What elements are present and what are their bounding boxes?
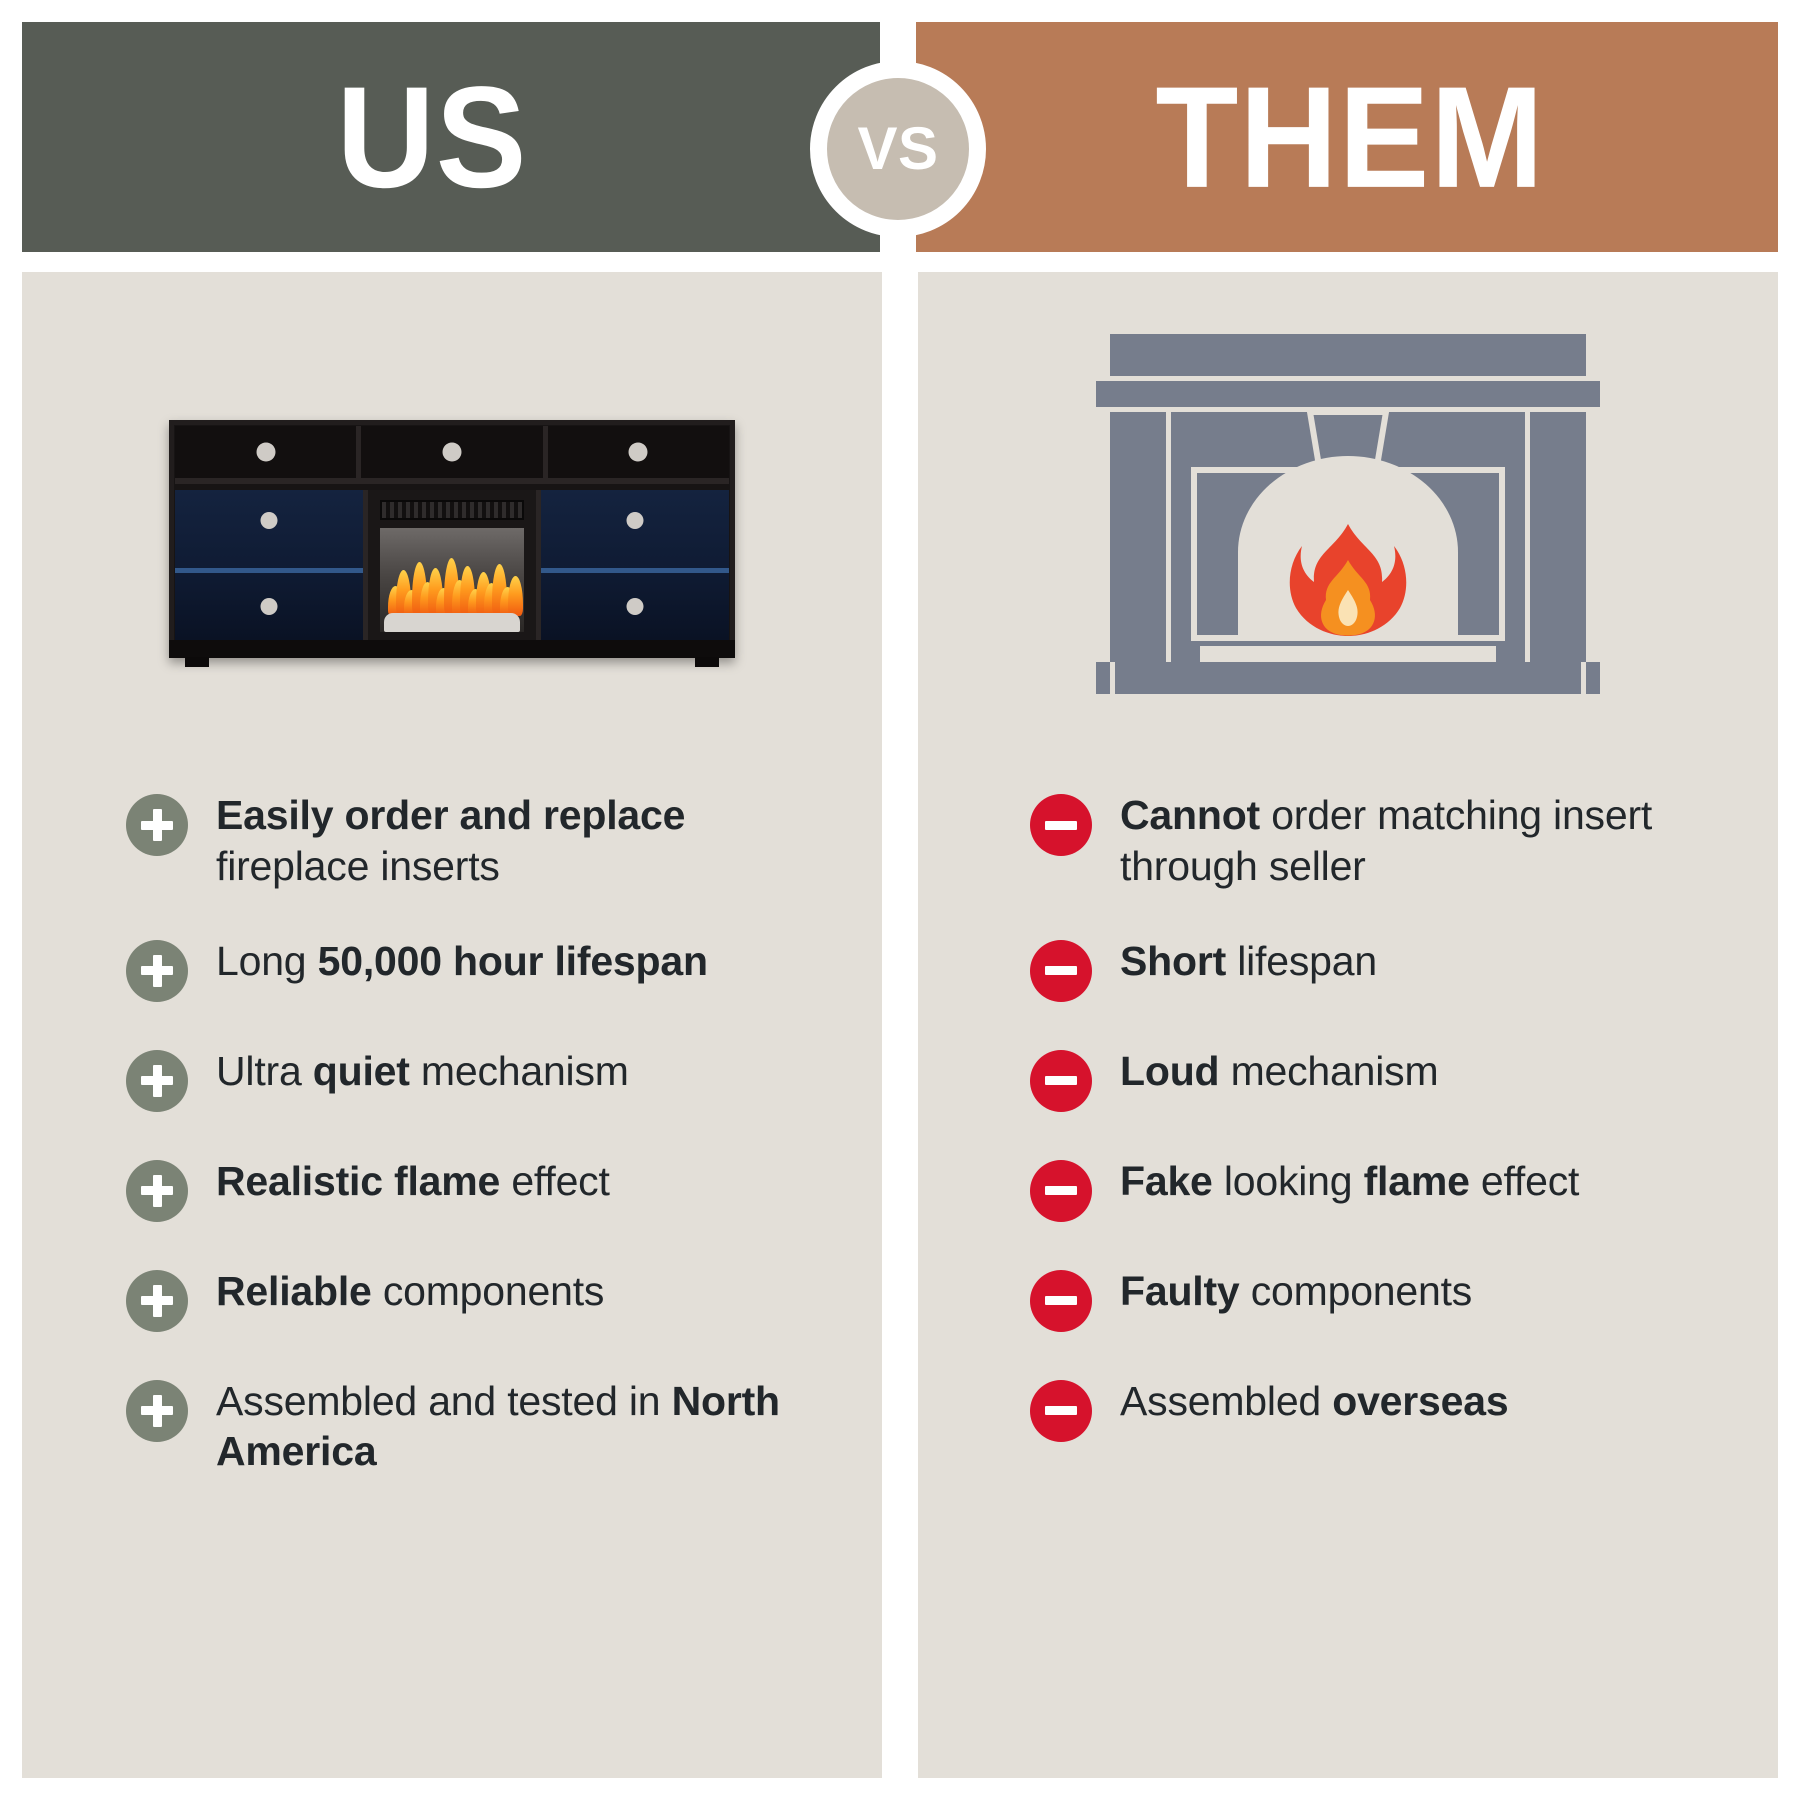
plus-icon: [126, 1270, 188, 1332]
benefit-list-us: Easily order and replace fireplace inser…: [22, 772, 882, 1778]
bullet-reg-1: components: [1240, 1268, 1473, 1314]
list-item: Ultra quiet mechanism: [126, 1046, 836, 1112]
bullet-bold-1: Realistic flame: [216, 1158, 500, 1204]
list-item: Cannot order matching insert through sel…: [1030, 790, 1744, 892]
list-item-label: Assembled and tested in North America: [216, 1376, 836, 1478]
vs-badge-label: VS: [857, 119, 938, 179]
list-item-label: Fake looking flame effect: [1120, 1156, 1579, 1207]
bullet-reg-1: lifespan: [1226, 938, 1377, 984]
bullet-reg-2: mechanism: [410, 1048, 629, 1094]
list-item: Loud mechanism: [1030, 1046, 1744, 1112]
insert-flame-effect: [386, 554, 519, 616]
bullet-bold-1: Fake: [1120, 1158, 1213, 1204]
bullet-reg-1: effect: [500, 1158, 610, 1204]
console-led-dot: [629, 443, 648, 462]
list-item-label: Short lifespan: [1120, 936, 1377, 987]
minus-icon: [1030, 794, 1092, 856]
console-top-cell: [361, 426, 547, 478]
column-us: Easily order and replace fireplace inser…: [22, 272, 882, 1778]
list-item: Faulty components: [1030, 1266, 1744, 1332]
fireplace-insert: [363, 490, 541, 640]
console-led-dot: [627, 598, 644, 615]
list-item-label: Loud mechanism: [1120, 1046, 1438, 1097]
column-them: Cannot order matching insert through sel…: [918, 272, 1778, 1778]
list-item-label: Long 50,000 hour lifespan: [216, 936, 708, 987]
list-item-label: Realistic flame effect: [216, 1156, 610, 1207]
bullet-reg-1: fireplace inserts: [216, 843, 500, 889]
list-item: Assembled and tested in North America: [126, 1376, 836, 1478]
plus-icon: [126, 794, 188, 856]
bullet-reg-1: mechanism: [1219, 1048, 1438, 1094]
bullet-bold-2: overseas: [1332, 1378, 1508, 1424]
bullet-reg-1: Assembled: [1120, 1378, 1332, 1424]
fireplace-svg: [1088, 328, 1608, 700]
bullet-bold-1: Faulty: [1120, 1268, 1240, 1314]
list-item: Long 50,000 hour lifespan: [126, 936, 836, 1002]
list-item: Easily order and replace fireplace inser…: [126, 790, 836, 892]
list-item: Reliable components: [126, 1266, 836, 1332]
vs-badge: VS: [810, 61, 986, 237]
console-led-dot: [256, 443, 275, 462]
console-side-bay-right: [541, 490, 729, 640]
bullet-bold-1: Reliable: [216, 1268, 372, 1314]
insert-vent-grille: [380, 500, 524, 520]
list-item-label: Ultra quiet mechanism: [216, 1046, 629, 1097]
bullet-bold-1: Easily order and replace: [216, 792, 685, 838]
art-area-us: [22, 272, 882, 772]
console-foot: [695, 657, 719, 667]
bullet-reg-2: effect: [1470, 1158, 1580, 1204]
console-glass-shelf: [541, 568, 729, 573]
console-base: [169, 640, 735, 658]
list-item-label: Faulty components: [1120, 1266, 1472, 1317]
list-item: Fake looking flame effect: [1030, 1156, 1744, 1222]
header-title-us: US: [337, 65, 528, 209]
plus-icon: [126, 1380, 188, 1442]
minus-icon: [1030, 1160, 1092, 1222]
list-item-label: Cannot order matching insert through sel…: [1120, 790, 1744, 892]
plus-icon: [126, 940, 188, 1002]
minus-icon: [1030, 1050, 1092, 1112]
console-top-shelf: [175, 426, 729, 484]
insert-ember-bed: [384, 613, 519, 632]
bullet-bold-1: Cannot: [1120, 792, 1260, 838]
electric-fireplace-tv-console-photo: [169, 420, 735, 658]
list-item-label: Assembled overseas: [1120, 1376, 1508, 1427]
drawback-list-them: Cannot order matching insert through sel…: [918, 772, 1778, 1778]
console-top-cell: [548, 426, 729, 478]
bullet-bold-2: 50,000 hour lifespan: [318, 938, 708, 984]
bullet-bold-2: flame: [1364, 1158, 1470, 1204]
header-panel-us: US: [22, 22, 900, 252]
console-led-dot: [442, 443, 461, 462]
list-item-label: Easily order and replace fireplace inser…: [216, 790, 836, 892]
list-item: Assembled overseas: [1030, 1376, 1744, 1442]
minus-icon: [1030, 1270, 1092, 1332]
header-title-them: THEM: [1155, 65, 1544, 209]
console-side-bay-left: [175, 490, 363, 640]
console-led-dot: [627, 512, 644, 529]
bullet-reg-1: components: [372, 1268, 605, 1314]
console-led-dot: [261, 598, 278, 615]
console-foot: [185, 657, 209, 667]
bullet-bold-1: Short: [1120, 938, 1226, 984]
masonry-fireplace-illustration: [1088, 328, 1608, 700]
bullet-reg-1: Ultra: [216, 1048, 313, 1094]
bullet-bold-1: Loud: [1120, 1048, 1219, 1094]
list-item-label: Reliable components: [216, 1266, 604, 1317]
console-lower-section: [175, 490, 729, 640]
bullet-reg-1: Assembled and tested in: [216, 1378, 672, 1424]
comparison-infographic: US THEM VS: [0, 0, 1800, 1800]
minus-icon: [1030, 940, 1092, 1002]
plus-icon: [126, 1160, 188, 1222]
plus-icon: [126, 1050, 188, 1112]
art-area-them: [918, 272, 1778, 772]
bullet-bold-2: quiet: [313, 1048, 410, 1094]
bullet-reg-1: looking: [1213, 1158, 1364, 1204]
minus-icon: [1030, 1380, 1092, 1442]
header-panel-them: THEM: [900, 22, 1778, 252]
list-item: Realistic flame effect: [126, 1156, 836, 1222]
body-row: Easily order and replace fireplace inser…: [22, 272, 1778, 1778]
insert-firebox: [380, 528, 524, 632]
console-glass-shelf: [175, 568, 363, 573]
bullet-reg-1: Long: [216, 938, 318, 984]
list-item: Short lifespan: [1030, 936, 1744, 1002]
console-led-dot: [261, 512, 278, 529]
console-top-cell: [175, 426, 361, 478]
